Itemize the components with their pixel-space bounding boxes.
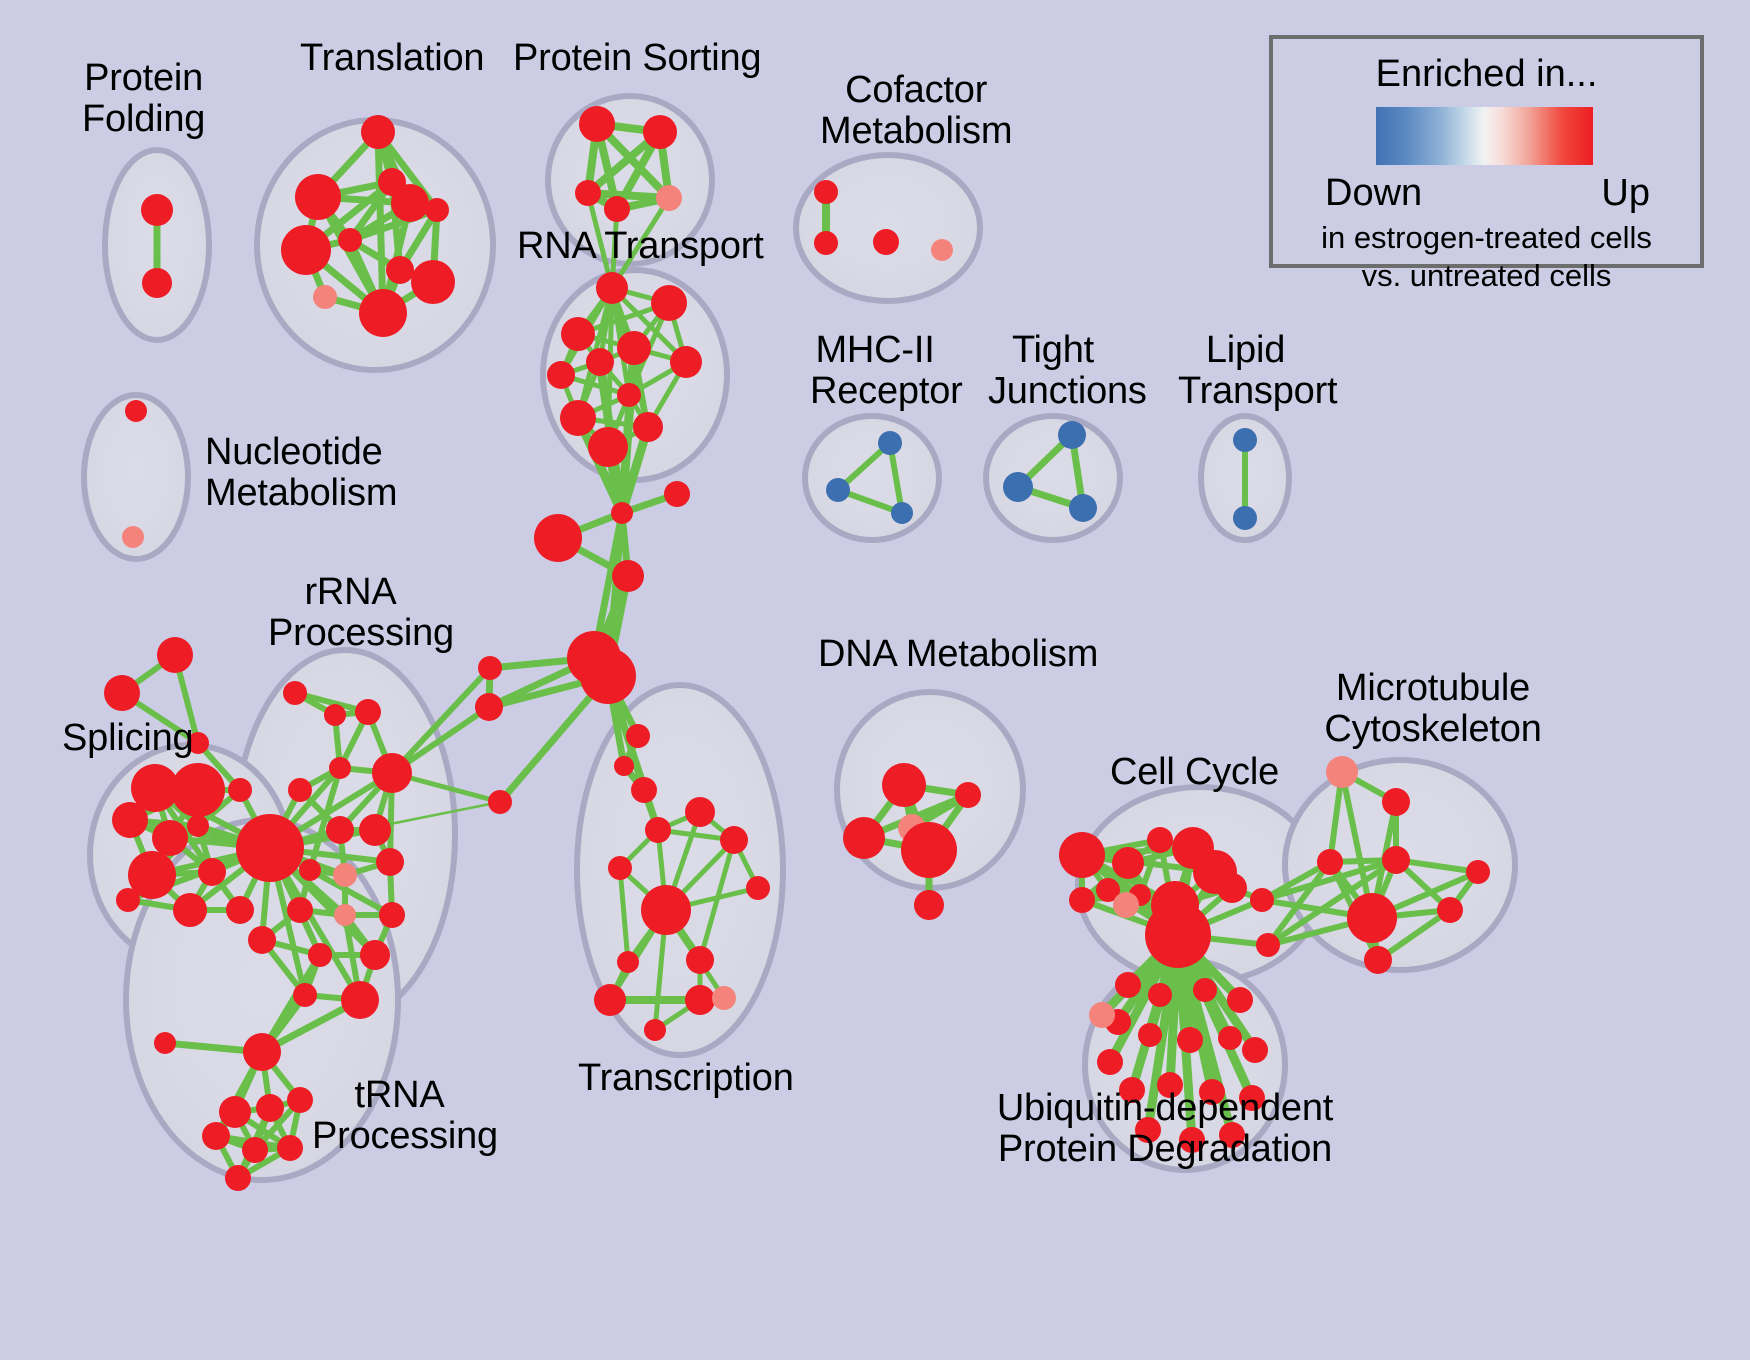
gene-set-node	[1364, 946, 1392, 974]
gene-set-node	[281, 225, 331, 275]
gene-set-node	[580, 648, 636, 704]
legend-caption-line-2: vs. untreated cells	[1273, 258, 1700, 294]
gene-set-node	[1177, 1027, 1203, 1053]
gene-set-node	[712, 986, 736, 1010]
gene-set-node	[154, 1032, 176, 1054]
gene-set-node	[931, 239, 953, 261]
enrichment-map-figure: Protein Folding Translation Protein Sort…	[0, 0, 1750, 1360]
cluster-ellipse-mhc-ii-receptor	[805, 416, 939, 540]
gene-set-node	[686, 946, 714, 974]
gene-set-node	[329, 757, 351, 779]
gene-set-node	[1347, 893, 1397, 943]
gene-set-node	[334, 904, 356, 926]
gene-set-node	[1147, 827, 1173, 853]
gene-set-node	[1157, 1072, 1183, 1098]
gene-set-node	[1217, 873, 1247, 903]
gene-set-node	[142, 268, 172, 298]
gene-set-node	[534, 514, 582, 562]
gene-set-node	[746, 876, 770, 900]
gene-set-node	[411, 260, 455, 304]
gene-set-node	[376, 848, 404, 876]
gene-set-node	[1242, 1037, 1268, 1063]
gene-set-node	[914, 890, 944, 920]
legend-title: Enriched in...	[1273, 53, 1700, 96]
gene-set-node	[1466, 860, 1490, 884]
gene-set-node	[1003, 472, 1033, 502]
gene-set-node	[299, 859, 321, 881]
gene-set-node	[1218, 1026, 1242, 1050]
gene-set-node	[641, 885, 691, 935]
gene-set-node	[104, 675, 140, 711]
gene-set-node	[1148, 983, 1172, 1007]
gene-set-node	[1233, 506, 1257, 530]
gene-set-node	[386, 256, 414, 284]
gene-set-node	[141, 194, 173, 226]
gene-set-node	[882, 763, 926, 807]
gene-set-node	[656, 185, 682, 211]
gene-set-node	[826, 478, 850, 502]
gene-set-node	[561, 317, 595, 351]
gene-set-node	[359, 814, 391, 846]
gene-set-node	[1119, 1077, 1145, 1103]
legend-box: Enriched in... Down Up in estrogen-treat…	[1269, 35, 1704, 268]
gene-set-node	[288, 778, 312, 802]
gene-set-node	[326, 816, 354, 844]
legend-color-gradient-bar	[1376, 107, 1593, 165]
gene-set-node	[1059, 832, 1105, 878]
gene-set-node	[1219, 1122, 1245, 1148]
gene-set-node	[604, 196, 630, 222]
gene-set-node	[1115, 972, 1141, 998]
gene-set-node	[360, 940, 390, 970]
gene-set-node	[475, 693, 503, 721]
gene-set-node	[1145, 902, 1211, 968]
gene-set-node	[1112, 847, 1144, 879]
gene-set-node	[338, 228, 362, 252]
gene-set-node	[1097, 1049, 1123, 1075]
gene-set-node	[617, 383, 641, 407]
gene-set-node	[324, 704, 346, 726]
gene-set-node	[313, 285, 337, 309]
gene-set-node	[359, 289, 407, 337]
gene-set-node	[547, 361, 575, 389]
gene-set-node	[248, 926, 276, 954]
gene-set-node	[1250, 888, 1274, 912]
legend-caption-line-1: in estrogen-treated cells	[1273, 220, 1700, 256]
gene-set-node	[1317, 849, 1343, 875]
gene-set-node	[277, 1135, 303, 1161]
gene-set-node	[202, 1122, 230, 1150]
gene-set-node	[560, 400, 596, 436]
gene-set-node	[670, 346, 702, 378]
gene-set-node	[1179, 1127, 1205, 1153]
gene-set-node	[1437, 897, 1463, 923]
gene-set-node	[891, 502, 913, 524]
gene-set-node	[125, 400, 147, 422]
gene-set-node	[1069, 494, 1097, 522]
legend-low-label: Down	[1325, 172, 1422, 215]
gene-set-node	[1069, 887, 1095, 913]
gene-set-node	[617, 951, 639, 973]
gene-set-node	[617, 331, 651, 365]
gene-set-node	[187, 815, 209, 837]
gene-set-node	[631, 777, 657, 803]
gene-set-node	[198, 858, 226, 886]
gene-set-node	[1239, 1085, 1265, 1111]
gene-set-node	[171, 763, 225, 817]
gene-set-node	[1233, 428, 1257, 452]
gene-set-node	[1193, 978, 1217, 1002]
gene-set-node	[1058, 421, 1086, 449]
gene-set-node	[685, 985, 715, 1015]
gene-set-node	[643, 115, 677, 149]
gene-set-node	[122, 526, 144, 548]
gene-set-node	[378, 168, 406, 196]
gene-set-node	[579, 106, 615, 142]
gene-set-node	[814, 231, 838, 255]
gene-set-node	[1113, 892, 1139, 918]
gene-set-node	[814, 180, 838, 204]
gene-set-node	[1326, 756, 1358, 788]
gene-set-node	[633, 412, 663, 442]
gene-set-node	[157, 637, 193, 673]
gene-set-node	[596, 272, 628, 304]
gene-set-node	[112, 802, 148, 838]
gene-set-node	[901, 822, 957, 878]
gene-set-node	[843, 817, 885, 859]
gene-set-node	[644, 1019, 666, 1041]
gene-set-node	[187, 732, 209, 754]
gene-set-node	[283, 681, 307, 705]
gene-set-node	[608, 856, 632, 880]
gene-set-node	[379, 902, 405, 928]
gene-set-node	[228, 778, 252, 802]
gene-set-node	[256, 1094, 284, 1122]
gene-set-node	[308, 943, 332, 967]
gene-set-node	[1135, 1117, 1161, 1143]
gene-set-node	[225, 1165, 251, 1191]
gene-set-node	[1089, 1002, 1115, 1028]
gene-set-node	[614, 756, 634, 776]
gene-set-node	[645, 817, 671, 843]
gene-set-node	[478, 656, 502, 680]
gene-set-node	[612, 560, 644, 592]
gene-set-node	[173, 893, 207, 927]
gene-set-node	[586, 348, 614, 376]
gene-set-node	[664, 481, 690, 507]
gene-set-node	[242, 1137, 268, 1163]
gene-set-node	[287, 897, 313, 923]
gene-set-node	[1382, 846, 1410, 874]
legend-high-label: Up	[1601, 172, 1650, 215]
gene-set-node	[243, 1033, 281, 1071]
gene-set-node	[720, 826, 748, 854]
gene-set-node	[955, 782, 981, 808]
gene-set-node	[626, 724, 650, 748]
gene-set-node	[236, 814, 304, 882]
gene-set-node	[575, 180, 601, 206]
gene-set-node	[372, 753, 412, 793]
gene-set-node	[611, 502, 633, 524]
gene-set-node	[341, 981, 379, 1019]
gene-set-node	[588, 427, 628, 467]
gene-set-node	[1256, 933, 1280, 957]
gene-set-node	[152, 820, 188, 856]
gene-set-node	[361, 115, 395, 149]
gene-set-node	[333, 863, 357, 887]
gene-set-node	[1382, 788, 1410, 816]
gene-set-node	[488, 790, 512, 814]
gene-set-node	[293, 983, 317, 1007]
gene-set-node	[594, 984, 626, 1016]
gene-set-node	[295, 174, 341, 220]
gene-set-node	[878, 431, 902, 455]
gene-set-node	[226, 896, 254, 924]
gene-set-node	[1138, 1023, 1162, 1047]
gene-set-node	[287, 1087, 313, 1113]
gene-set-node	[1227, 987, 1253, 1013]
gene-set-node	[116, 888, 140, 912]
gene-set-node	[219, 1096, 251, 1128]
gene-set-node	[873, 229, 899, 255]
gene-set-node	[355, 699, 381, 725]
gene-set-node	[1199, 1079, 1225, 1105]
gene-set-node	[651, 285, 687, 321]
gene-set-node	[425, 198, 449, 222]
gene-set-node	[685, 797, 715, 827]
